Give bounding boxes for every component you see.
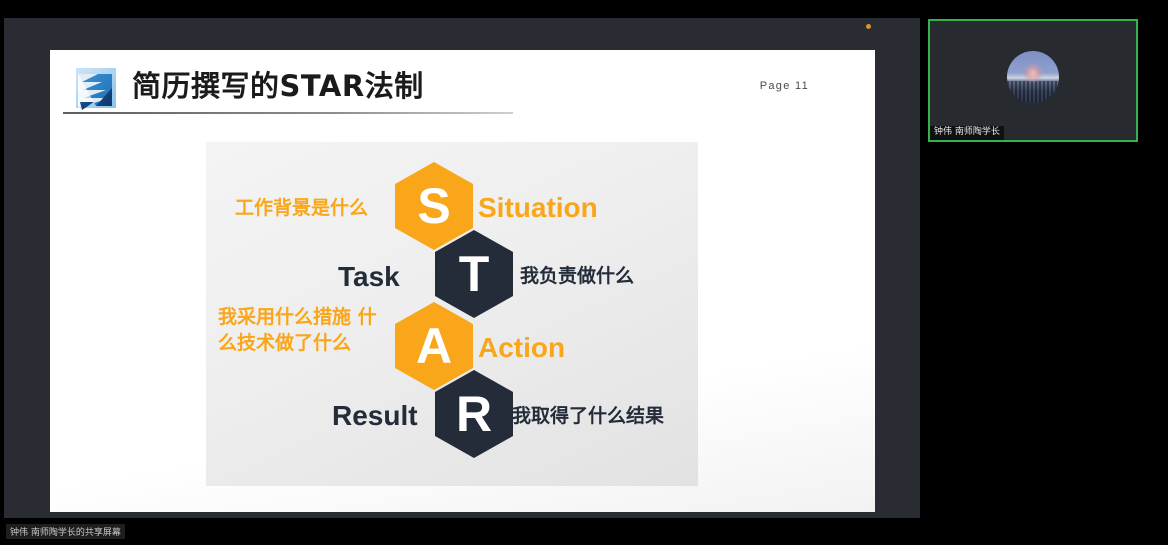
recording-indicator-dot xyxy=(866,24,871,29)
share-status-label: 钟伟 南师陶学长的共享屏幕 xyxy=(6,524,125,539)
title-underline-rule xyxy=(63,112,513,114)
presentation-slide[interactable]: 简历撰写的STAR法制 Page 11 S T A R Situation Ta… xyxy=(50,50,875,512)
bottom-status-bar: 钟伟 南师陶学长的共享屏幕 xyxy=(0,518,1168,545)
participant-video-tile[interactable]: 钟伟 南师陶学长 xyxy=(928,19,1138,142)
label-task-english: Task xyxy=(338,261,400,293)
hexagon-letter-s: S xyxy=(417,181,450,231)
screen-share-right-gutter xyxy=(875,18,920,518)
label-action-chinese: 我采用什么措施 什么技术做了什么 xyxy=(218,305,384,356)
blue-arrow-chart-logo-icon xyxy=(72,66,120,112)
hexagon-s: S xyxy=(395,162,473,250)
label-situation-english: Situation xyxy=(478,192,598,224)
avatar-photo-highlight xyxy=(1022,64,1044,82)
participant-name-label: 钟伟 南师陶学长 xyxy=(930,126,1004,140)
label-task-chinese: 我负责做什么 xyxy=(520,264,634,290)
hexagon-r: R xyxy=(435,370,513,458)
page-title: 简历撰写的STAR法制 xyxy=(132,63,424,105)
label-situation-chinese: 工作背景是什么 xyxy=(235,196,368,222)
hexagon-a: A xyxy=(395,302,473,390)
avatar xyxy=(1007,51,1059,103)
label-action-english: Action xyxy=(478,332,565,364)
page-number-label: Page 11 xyxy=(760,80,809,92)
avatar-photo-background xyxy=(1007,81,1059,103)
star-method-diagram: S T A R Situation Task Action Result 工作背… xyxy=(206,142,698,486)
hexagon-t: T xyxy=(435,230,513,318)
label-result-english: Result xyxy=(332,400,418,432)
hexagon-letter-t: T xyxy=(459,249,490,299)
slide-header: 简历撰写的STAR法制 Page 11 xyxy=(62,58,862,120)
hexagon-letter-a: A xyxy=(416,321,452,371)
label-result-chinese: 我取得了什么结果 xyxy=(512,404,664,430)
hexagon-letter-r: R xyxy=(456,389,492,439)
